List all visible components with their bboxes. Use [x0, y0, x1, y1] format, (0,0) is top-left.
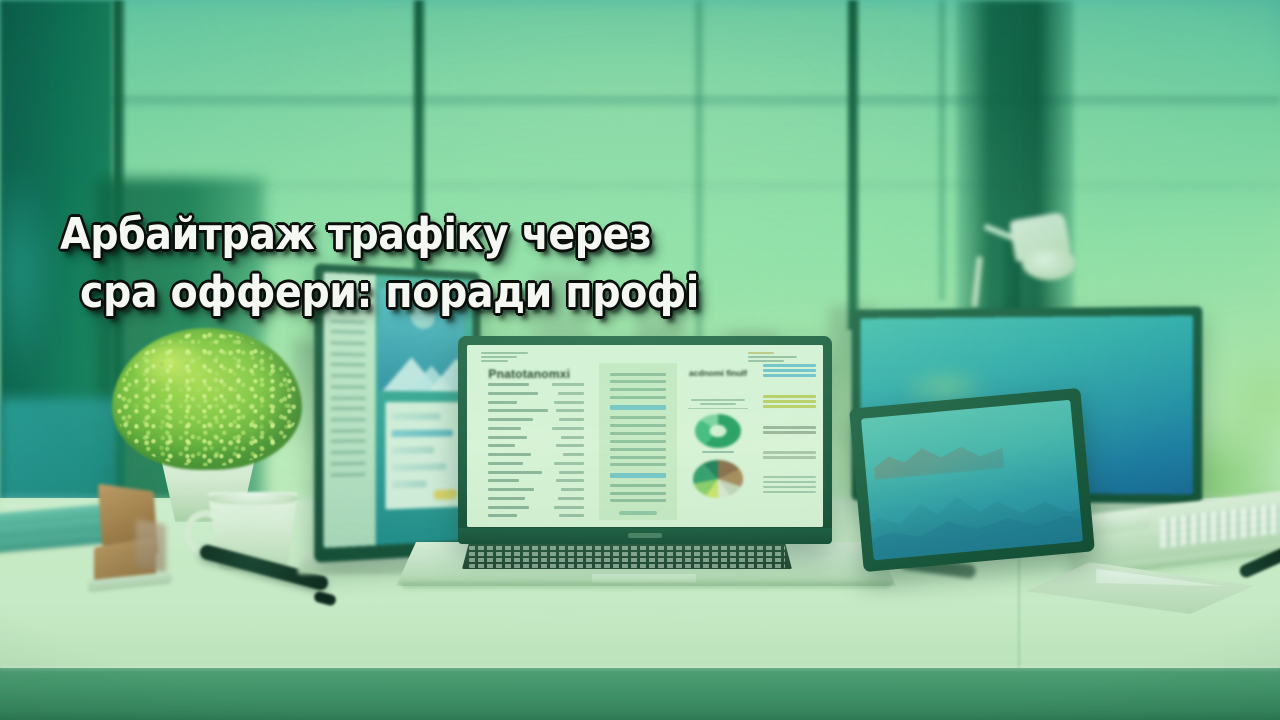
- dashboard-right-text-column: [763, 361, 816, 516]
- dashboard-breadcrumb: [481, 352, 527, 363]
- desk-lamp: [968, 216, 1098, 322]
- dashboard-card-title: acdnomi finulf: [688, 368, 748, 379]
- dashboard-heading: Pnatotanomxi: [488, 367, 570, 381]
- laptop-screen: Pnatotanomxi: [467, 345, 823, 527]
- laptop-keyboard: [462, 544, 792, 569]
- window-mullion-3: [694, 0, 704, 360]
- tablet-screen: [861, 400, 1083, 560]
- dashboard-middle-panel: [599, 363, 677, 520]
- dashboard-data-rows: [488, 383, 584, 520]
- wireless-keyboard: [1074, 500, 1280, 558]
- window-mullion-5: [938, 0, 946, 300]
- hero-image-canvas: Pnatotanomxi: [0, 0, 1280, 720]
- pie-chart: [693, 460, 743, 498]
- desk-edge-highlight: [0, 666, 1280, 670]
- dashboard-chart-card: acdnomi finulf: [684, 361, 752, 516]
- window-transom-bar: [100, 96, 1280, 107]
- donut-chart: [695, 414, 741, 448]
- laptop-base-shadow: [400, 582, 892, 589]
- dashboard-view: Pnatotanomxi: [467, 345, 823, 527]
- tablet: [856, 398, 1088, 562]
- office-wall-glow: [0, 120, 96, 420]
- window-transom-bar-lower: [100, 183, 1280, 190]
- desk-front-edge: [0, 668, 1280, 720]
- back-laptop-sidebar: [323, 272, 376, 548]
- laptop-brand-logo: [628, 533, 662, 538]
- center-laptop: Pnatotanomxi: [396, 336, 896, 598]
- notepad: [1026, 562, 1254, 614]
- window-mullion-4: [846, 0, 860, 330]
